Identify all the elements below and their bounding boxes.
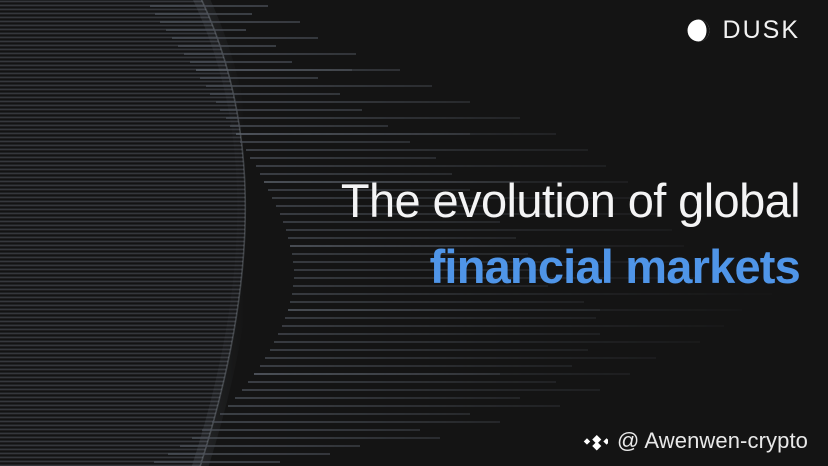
headline-block: The evolution of global financial market… (140, 168, 800, 300)
slide-canvas: DUSK The evolution of global financial m… (0, 0, 828, 466)
dusk-brand-lockup: DUSK (685, 17, 800, 44)
headline-line-primary: The evolution of global (140, 168, 800, 234)
author-handle: @ Awenwen-crypto (617, 430, 808, 452)
headline-line-accent: financial markets (140, 234, 800, 300)
dusk-wordmark: DUSK (723, 18, 800, 43)
dusk-crescent-moon-icon (685, 17, 712, 44)
author-watermark: @ Awenwen-crypto (581, 427, 808, 454)
binance-diamond-icon (581, 427, 608, 454)
